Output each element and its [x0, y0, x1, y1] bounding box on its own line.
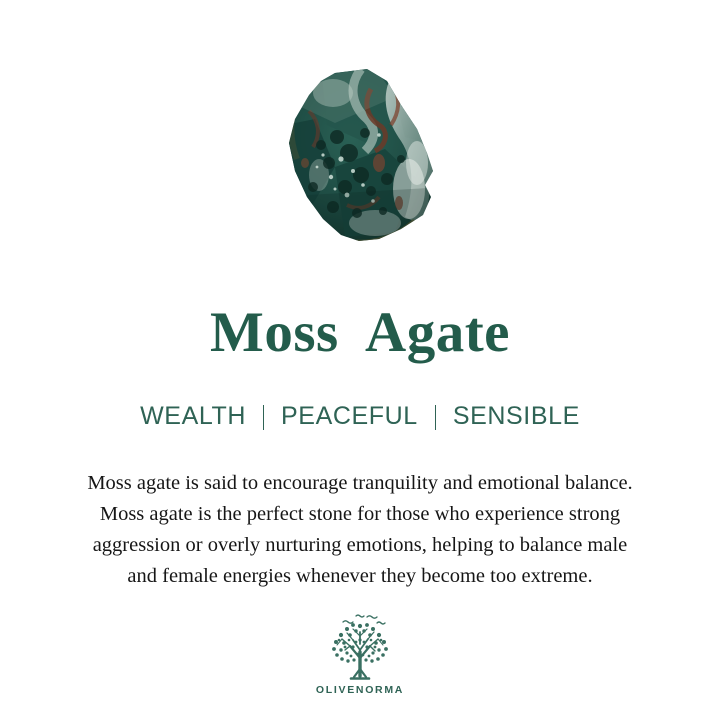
- keyword-separator: [435, 405, 436, 430]
- brand-name: OLIVENORMA: [316, 684, 404, 696]
- gemstone-image: [0, 62, 720, 247]
- product-info-card: Moss Agate WEALTH PEACEFUL SENSIBLE Moss…: [0, 0, 720, 720]
- keyword-separator: [263, 405, 264, 430]
- tree-of-life-icon: [323, 612, 397, 682]
- page-title: Moss Agate: [0, 303, 720, 363]
- keyword-peaceful: PEACEFUL: [281, 402, 418, 431]
- keyword-list: WEALTH PEACEFUL SENSIBLE: [0, 402, 720, 431]
- keyword-sensible: SENSIBLE: [453, 402, 580, 431]
- keyword-wealth: WEALTH: [140, 402, 246, 431]
- description-line: and female energies whenever they become…: [36, 561, 684, 592]
- product-description: Moss agate is said to encourage tranquil…: [36, 468, 684, 592]
- moss-agate-stone-illustration: [275, 67, 445, 242]
- description-line: aggression or overly nurturing emotions,…: [36, 530, 684, 561]
- brand-logo: OLIVENORMA: [0, 612, 720, 696]
- description-line: Moss agate is the perfect stone for thos…: [36, 499, 684, 530]
- description-line: Moss agate is said to encourage tranquil…: [36, 468, 684, 499]
